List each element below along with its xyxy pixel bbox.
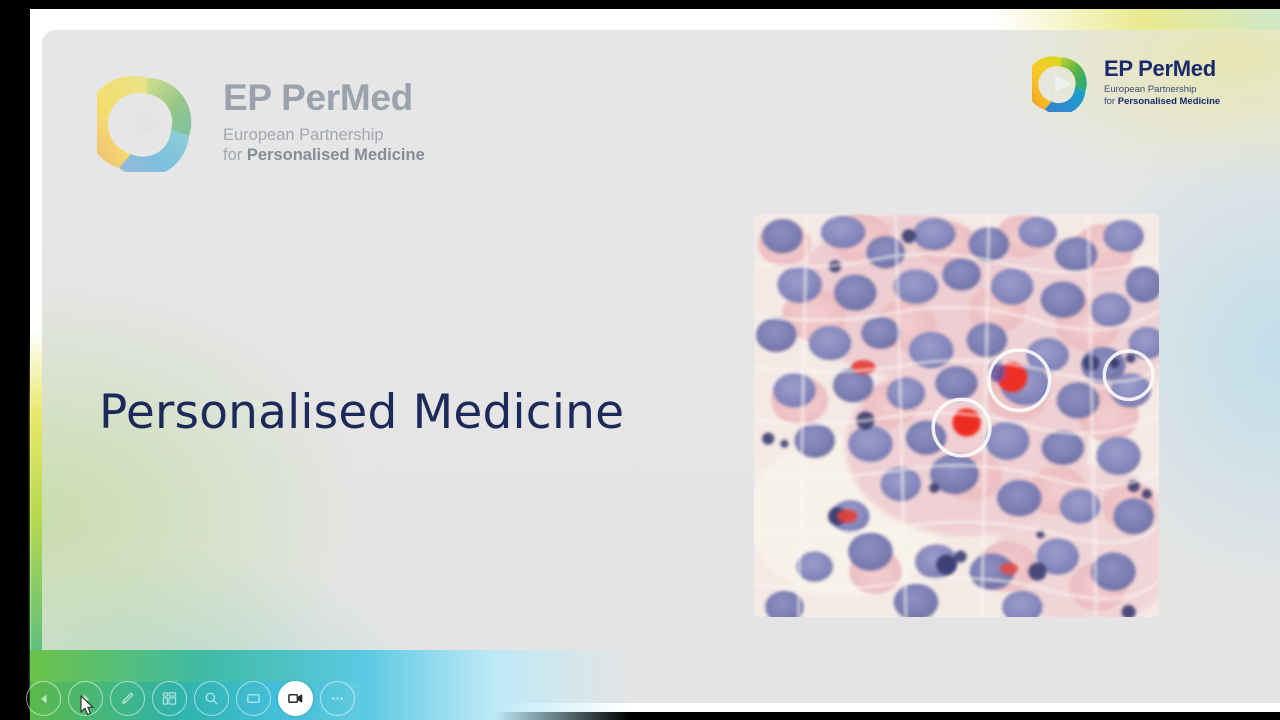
logo-subtitle-line2: for Personalised Medicine [223, 145, 425, 165]
ep-permed-logo-corner: EP PerMed European Partnership for Perso… [1032, 54, 1220, 112]
more-options-button[interactable] [320, 681, 355, 716]
slide-canvas[interactable]: EP PerMed European Partnership for Perso… [42, 30, 1280, 703]
logo-subtitle-prefix: for [223, 146, 247, 164]
camera-icon [287, 690, 304, 707]
slideshow-stage: EP PerMed European Partnership for Perso… [0, 0, 1280, 720]
blank-screen-icon [246, 691, 261, 706]
logo-subtitle-prefix: for [1104, 96, 1118, 107]
logo-subtitle-bold: Personalised Medicine [247, 146, 425, 164]
camera-toggle-button[interactable] [278, 681, 313, 716]
logo-subtitle: European Partnership for Personalised Me… [1104, 84, 1220, 107]
more-options-icon [330, 691, 345, 706]
ep-permed-logo-main: EP PerMed European Partnership for Perso… [97, 72, 425, 172]
all-slides-button[interactable] [152, 681, 187, 716]
slideshow-toolbar[interactable] [26, 681, 355, 716]
previous-slide-button[interactable] [26, 681, 61, 716]
logo-title: EP PerMed [1104, 58, 1220, 80]
slide-title: Personalised Medicine [99, 385, 624, 440]
all-slides-icon [162, 691, 177, 706]
ep-permed-ring-icon [97, 72, 197, 172]
logo-subtitle-line1: European Partnership [223, 125, 425, 145]
logo-title: EP PerMed [223, 79, 425, 116]
pen-tools-button[interactable] [110, 681, 145, 716]
pen-icon [120, 691, 135, 706]
logo-subtitle-line2: for Personalised Medicine [1104, 96, 1220, 108]
ep-permed-ring-icon-small [1032, 54, 1090, 112]
logo-subtitle: European Partnership for Personalised Me… [223, 125, 425, 165]
blank-screen-button[interactable] [236, 681, 271, 716]
logo-subtitle-bold: Personalised Medicine [1118, 96, 1220, 107]
mouse-cursor [80, 695, 96, 717]
previous-slide-icon [38, 693, 50, 705]
zoom-slide-button[interactable] [194, 681, 229, 716]
micrograph-image [754, 214, 1159, 617]
logo-subtitle-line1: European Partnership [1104, 84, 1220, 96]
zoom-icon [204, 691, 219, 706]
